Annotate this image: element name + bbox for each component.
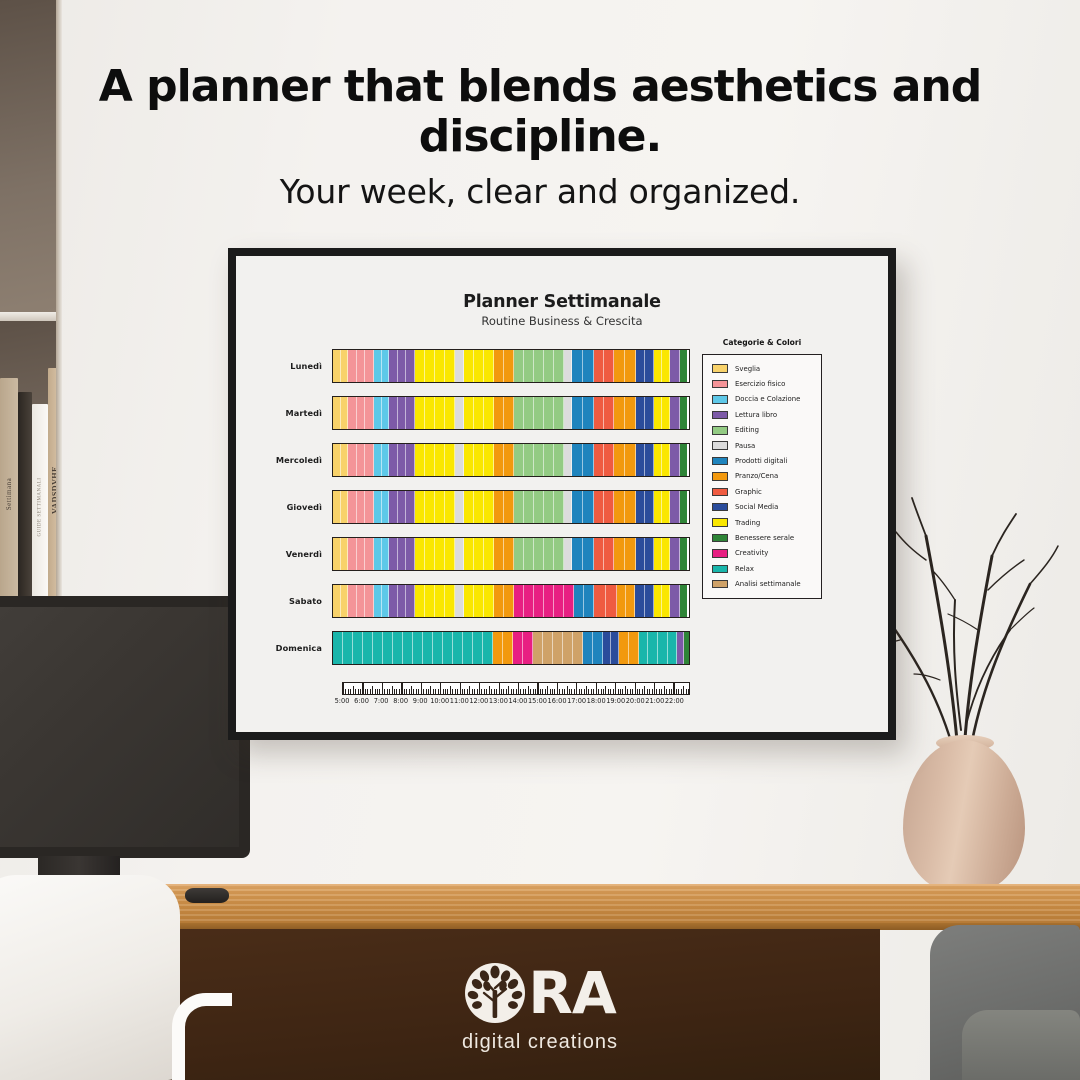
- timeline-segment[interactable]: [645, 397, 654, 429]
- timeline-segment[interactable]: [654, 444, 662, 476]
- timeline-segment[interactable]: [415, 350, 425, 382]
- timeline-segment[interactable]: [593, 632, 603, 664]
- axis-tick-label: 21:00: [645, 697, 664, 705]
- timeline-segment[interactable]: [636, 397, 645, 429]
- timeline-segment[interactable]: [415, 491, 425, 523]
- timeline-segment[interactable]: [668, 632, 678, 664]
- timeline-segment[interactable]: [425, 397, 435, 429]
- timeline-segment[interactable]: [415, 538, 425, 570]
- timeline-segment[interactable]: [341, 491, 349, 523]
- timeline-segment[interactable]: [564, 397, 572, 429]
- timeline-segment[interactable]: [445, 585, 455, 617]
- timeline-segment[interactable]: [443, 632, 453, 664]
- timeline-segment[interactable]: [611, 632, 619, 664]
- timeline-segment[interactable]: [455, 538, 465, 570]
- timeline-segment[interactable]: [464, 538, 474, 570]
- timeline-segment[interactable]: [425, 350, 435, 382]
- timeline-segment[interactable]: [435, 397, 445, 429]
- timeline-segment[interactable]: [464, 350, 474, 382]
- legend-label: Sveglia: [735, 365, 760, 373]
- timeline-segment[interactable]: [614, 538, 625, 570]
- timeline-segment[interactable]: [504, 538, 514, 570]
- legend-item[interactable]: Benessere serale: [712, 530, 815, 545]
- timeline-segment[interactable]: [583, 350, 594, 382]
- legend-item[interactable]: Prodotti digitali: [712, 453, 815, 468]
- timeline-segment[interactable]: [398, 350, 406, 382]
- timeline-segment[interactable]: [619, 632, 629, 664]
- timeline-segment[interactable]: [425, 538, 435, 570]
- timeline-segment[interactable]: [594, 444, 604, 476]
- timeline-segment[interactable]: [534, 444, 544, 476]
- timeline-segment[interactable]: [504, 444, 514, 476]
- day-timeline-bar[interactable]: [332, 631, 690, 665]
- timeline-segment[interactable]: [406, 538, 414, 570]
- timeline-segment[interactable]: [464, 491, 474, 523]
- timeline-segment[interactable]: [365, 585, 373, 617]
- timeline-segment[interactable]: [445, 538, 455, 570]
- timeline-segment[interactable]: [524, 538, 534, 570]
- timeline-segment[interactable]: [533, 632, 543, 664]
- timeline-segment[interactable]: [554, 397, 564, 429]
- timeline-segment[interactable]: [484, 491, 494, 523]
- timeline-segment[interactable]: [463, 632, 473, 664]
- timeline-segment[interactable]: [544, 350, 554, 382]
- timeline-segment[interactable]: [348, 491, 356, 523]
- day-timeline-bar[interactable]: [332, 537, 690, 571]
- timeline-segment[interactable]: [393, 632, 403, 664]
- timeline-segment[interactable]: [564, 350, 572, 382]
- axis-tick: [615, 682, 616, 694]
- timeline-segment[interactable]: [382, 444, 390, 476]
- day-label: Venerdì: [250, 549, 332, 559]
- timeline-segment[interactable]: [639, 632, 649, 664]
- timeline-segment[interactable]: [680, 491, 687, 523]
- timeline-segment[interactable]: [504, 350, 514, 382]
- timeline-segment[interactable]: [534, 350, 544, 382]
- timeline-segment[interactable]: [572, 350, 583, 382]
- timeline-segment[interactable]: [572, 491, 583, 523]
- timeline-segment[interactable]: [670, 538, 680, 570]
- timeline-segment[interactable]: [614, 444, 625, 476]
- timeline-segment[interactable]: [662, 444, 670, 476]
- timeline-segment[interactable]: [680, 444, 687, 476]
- timeline-segment[interactable]: [625, 397, 636, 429]
- timeline-segment[interactable]: [365, 444, 373, 476]
- timeline-segment[interactable]: [662, 397, 670, 429]
- timeline-segment[interactable]: [363, 632, 373, 664]
- timeline-segment[interactable]: [464, 444, 474, 476]
- timeline-segment[interactable]: [445, 350, 455, 382]
- timeline-segment[interactable]: [680, 585, 687, 617]
- timeline-segment[interactable]: [348, 350, 356, 382]
- timeline-segment[interactable]: [389, 397, 397, 429]
- timeline-segment[interactable]: [636, 491, 645, 523]
- timeline-segment[interactable]: [365, 538, 373, 570]
- timeline-segment[interactable]: [554, 444, 564, 476]
- timeline-segment[interactable]: [524, 491, 534, 523]
- timeline-segment[interactable]: [625, 350, 636, 382]
- timeline-segment[interactable]: [654, 397, 662, 429]
- timeline-segment[interactable]: [523, 632, 533, 664]
- timeline-segment[interactable]: [374, 444, 382, 476]
- timeline-segment[interactable]: [435, 585, 445, 617]
- timeline-segment[interactable]: [543, 632, 553, 664]
- timeline-segment[interactable]: [343, 632, 353, 664]
- timeline-segment[interactable]: [382, 397, 390, 429]
- timeline-segment[interactable]: [594, 538, 604, 570]
- timeline-segment[interactable]: [614, 397, 625, 429]
- timeline-segment[interactable]: [574, 585, 584, 617]
- timeline-segment[interactable]: [398, 538, 406, 570]
- timeline-segment[interactable]: [544, 585, 554, 617]
- day-timeline-bar[interactable]: [332, 443, 690, 477]
- timeline-segment[interactable]: [544, 491, 554, 523]
- timeline-segment[interactable]: [389, 350, 397, 382]
- timeline-segment[interactable]: [357, 538, 365, 570]
- timeline-segment[interactable]: [341, 350, 349, 382]
- day-label: Domenica: [250, 643, 332, 653]
- timeline-segment[interactable]: [645, 491, 654, 523]
- legend-item[interactable]: Trading: [712, 515, 815, 530]
- timeline-segment[interactable]: [353, 632, 363, 664]
- timeline-segment[interactable]: [365, 350, 373, 382]
- timeline-segment[interactable]: [455, 444, 465, 476]
- timeline-segment[interactable]: [625, 538, 636, 570]
- legend-item[interactable]: Pranzo/Cena: [712, 469, 815, 484]
- timeline-segment[interactable]: [374, 397, 382, 429]
- timeline-segment[interactable]: [648, 632, 658, 664]
- timeline-segment[interactable]: [403, 632, 413, 664]
- timeline-segment[interactable]: [594, 397, 604, 429]
- timeline-segment[interactable]: [435, 444, 445, 476]
- timeline-segment[interactable]: [494, 585, 504, 617]
- timeline-segment[interactable]: [504, 491, 514, 523]
- timeline-segment[interactable]: [514, 491, 524, 523]
- timeline-segment[interactable]: [425, 444, 435, 476]
- legend-item[interactable]: Editing: [712, 423, 815, 438]
- legend-item[interactable]: Esercizio fisico: [712, 376, 815, 391]
- timeline-segment[interactable]: [484, 350, 494, 382]
- timeline-segment[interactable]: [524, 397, 534, 429]
- timeline-segment[interactable]: [333, 538, 341, 570]
- timeline-segment[interactable]: [415, 585, 425, 617]
- timeline-segment[interactable]: [594, 350, 604, 382]
- timeline-segment[interactable]: [572, 397, 583, 429]
- timeline-segment[interactable]: [583, 632, 593, 664]
- timeline-segment[interactable]: [503, 632, 513, 664]
- timeline-segment[interactable]: [406, 444, 414, 476]
- timeline-segment[interactable]: [534, 585, 544, 617]
- timeline-segment[interactable]: [455, 397, 465, 429]
- timeline-segment[interactable]: [654, 585, 662, 617]
- timeline-segment[interactable]: [670, 585, 680, 617]
- timeline-segment[interactable]: [389, 444, 397, 476]
- axis-tick: [627, 689, 628, 694]
- timeline-segment[interactable]: [333, 585, 341, 617]
- timeline-segment[interactable]: [564, 491, 572, 523]
- timeline-segment[interactable]: [572, 538, 583, 570]
- timeline-segment[interactable]: [572, 444, 583, 476]
- timeline-segment[interactable]: [494, 491, 504, 523]
- timeline-segment[interactable]: [514, 350, 524, 382]
- timeline-segment[interactable]: [357, 585, 365, 617]
- day-timeline-bar[interactable]: [332, 396, 690, 430]
- timeline-segment[interactable]: [524, 350, 534, 382]
- timeline-segment[interactable]: [629, 632, 639, 664]
- timeline-segment[interactable]: [333, 491, 341, 523]
- timeline-segment[interactable]: [333, 444, 341, 476]
- timeline-segment[interactable]: [554, 538, 564, 570]
- timeline-segment[interactable]: [493, 632, 503, 664]
- timeline-segment[interactable]: [398, 444, 406, 476]
- timeline-segment[interactable]: [583, 538, 594, 570]
- timeline-segment[interactable]: [645, 444, 654, 476]
- timeline-segment[interactable]: [636, 444, 645, 476]
- timeline-segment[interactable]: [474, 350, 484, 382]
- timeline-segment[interactable]: [365, 397, 373, 429]
- timeline-segment[interactable]: [658, 632, 668, 664]
- timeline-segment[interactable]: [445, 397, 455, 429]
- timeline-segment[interactable]: [382, 350, 390, 382]
- timeline-segment[interactable]: [670, 491, 680, 523]
- timeline-segment[interactable]: [636, 350, 645, 382]
- timeline-segment[interactable]: [564, 585, 574, 617]
- legend-item[interactable]: Pausa: [712, 438, 815, 453]
- timeline-segment[interactable]: [435, 538, 445, 570]
- axis-tick: [644, 686, 645, 694]
- timeline-segment[interactable]: [425, 585, 435, 617]
- timeline-segment[interactable]: [383, 632, 393, 664]
- timeline-segment[interactable]: [413, 632, 423, 664]
- timeline-segment[interactable]: [484, 585, 494, 617]
- legend-title: Categorie & Colori: [702, 338, 822, 347]
- timeline-segment[interactable]: [341, 397, 349, 429]
- timeline-segment[interactable]: [603, 632, 611, 664]
- timeline-segment[interactable]: [563, 632, 573, 664]
- timeline-segment[interactable]: [455, 350, 465, 382]
- timeline-segment[interactable]: [662, 538, 670, 570]
- timeline-segment[interactable]: [333, 397, 341, 429]
- timeline-segment[interactable]: [680, 538, 687, 570]
- timeline-segment[interactable]: [374, 538, 382, 570]
- timeline-segment[interactable]: [514, 585, 524, 617]
- timeline-segment[interactable]: [483, 632, 493, 664]
- timeline-segment[interactable]: [357, 397, 365, 429]
- timeline-segment[interactable]: [415, 444, 425, 476]
- timeline-segment[interactable]: [484, 397, 494, 429]
- axis-tick: [375, 689, 376, 694]
- timeline-segment[interactable]: [423, 632, 433, 664]
- timeline-segment[interactable]: [553, 632, 563, 664]
- timeline-segment[interactable]: [348, 397, 356, 429]
- timeline-segment[interactable]: [374, 350, 382, 382]
- timeline-segment[interactable]: [494, 444, 504, 476]
- timeline-segment[interactable]: [604, 444, 614, 476]
- timeline-segment[interactable]: [680, 397, 687, 429]
- timeline-segment[interactable]: [662, 585, 670, 617]
- timeline-segment[interactable]: [662, 350, 670, 382]
- timeline-segment[interactable]: [474, 397, 484, 429]
- timeline-segment[interactable]: [374, 585, 382, 617]
- legend-item[interactable]: Graphic: [712, 484, 815, 499]
- timeline-segment[interactable]: [333, 632, 343, 664]
- timeline-segment[interactable]: [583, 491, 594, 523]
- timeline-segment[interactable]: [614, 491, 625, 523]
- timeline-segment[interactable]: [584, 585, 594, 617]
- timeline-segment[interactable]: [474, 538, 484, 570]
- timeline-segment[interactable]: [484, 444, 494, 476]
- timeline-segment[interactable]: [445, 444, 455, 476]
- timeline-segment[interactable]: [514, 444, 524, 476]
- timeline-segment[interactable]: [645, 350, 654, 382]
- timeline-segment[interactable]: [534, 538, 544, 570]
- timeline-segment[interactable]: [635, 585, 644, 617]
- timeline-segment[interactable]: [625, 491, 636, 523]
- timeline-segment[interactable]: [474, 491, 484, 523]
- timeline-segment[interactable]: [433, 632, 443, 664]
- timeline-segment[interactable]: [406, 585, 414, 617]
- timeline-segment[interactable]: [333, 350, 341, 382]
- timeline-segment[interactable]: [389, 538, 397, 570]
- timeline-segment[interactable]: [382, 538, 390, 570]
- timeline-segment[interactable]: [583, 397, 594, 429]
- timeline-segment[interactable]: [564, 444, 572, 476]
- axis-tick: [348, 689, 349, 694]
- timeline-segment[interactable]: [348, 538, 356, 570]
- timeline-segment[interactable]: [645, 538, 654, 570]
- timeline-segment[interactable]: [662, 491, 670, 523]
- timeline-segment[interactable]: [504, 585, 514, 617]
- timeline-segment[interactable]: [617, 585, 626, 617]
- timeline-segment[interactable]: [348, 444, 356, 476]
- timeline-segment[interactable]: [474, 444, 484, 476]
- timeline-segment[interactable]: [544, 397, 554, 429]
- timeline-segment[interactable]: [474, 585, 484, 617]
- legend-item[interactable]: Doccia e Colazione: [712, 392, 815, 407]
- timeline-segment[interactable]: [614, 350, 625, 382]
- timeline-segment[interactable]: [415, 397, 425, 429]
- timeline-segment[interactable]: [625, 444, 636, 476]
- timeline-segment[interactable]: [425, 491, 435, 523]
- timeline-segment[interactable]: [594, 585, 606, 617]
- timeline-segment[interactable]: [524, 585, 534, 617]
- timeline-segment[interactable]: [406, 397, 414, 429]
- timeline-segment[interactable]: [544, 444, 554, 476]
- timeline-segment[interactable]: [382, 491, 390, 523]
- timeline-segment[interactable]: [604, 350, 614, 382]
- timeline-segment[interactable]: [389, 491, 397, 523]
- timeline-segment[interactable]: [341, 585, 349, 617]
- timeline-segment[interactable]: [684, 632, 689, 664]
- timeline-segment[interactable]: [554, 585, 564, 617]
- timeline-segment[interactable]: [606, 585, 618, 617]
- axis-tick: [513, 689, 514, 694]
- timeline-segment[interactable]: [654, 350, 662, 382]
- timeline-segment[interactable]: [604, 491, 614, 523]
- timeline-segment[interactable]: [453, 632, 463, 664]
- legend-item[interactable]: Sveglia: [712, 361, 815, 376]
- timeline-segment[interactable]: [341, 444, 349, 476]
- legend-item[interactable]: Relax: [712, 561, 815, 576]
- timeline-segment[interactable]: [626, 585, 635, 617]
- timeline-segment[interactable]: [406, 350, 414, 382]
- timeline-segment[interactable]: [670, 397, 680, 429]
- timeline-segment[interactable]: [554, 491, 564, 523]
- timeline-segment[interactable]: [484, 538, 494, 570]
- timeline-segment[interactable]: [473, 632, 483, 664]
- timeline-segment[interactable]: [544, 538, 554, 570]
- legend-swatch: [712, 411, 728, 420]
- day-timeline-bar[interactable]: [332, 584, 690, 618]
- timeline-segment[interactable]: [534, 397, 544, 429]
- timeline-segment[interactable]: [455, 585, 465, 617]
- axis-tick: [622, 689, 623, 694]
- timeline-segment[interactable]: [435, 350, 445, 382]
- timeline-segment[interactable]: [398, 585, 406, 617]
- timeline-segment[interactable]: [494, 538, 504, 570]
- timeline-segment[interactable]: [680, 350, 687, 382]
- timeline-segment[interactable]: [670, 444, 680, 476]
- legend-item[interactable]: Analisi settimanale: [712, 576, 815, 591]
- timeline-segment[interactable]: [513, 632, 523, 664]
- legend-item[interactable]: Creativity: [712, 546, 815, 561]
- timeline-segment[interactable]: [435, 491, 445, 523]
- day-timeline-bar[interactable]: [332, 349, 690, 383]
- timeline-segment[interactable]: [573, 632, 583, 664]
- timeline-segment[interactable]: [357, 350, 365, 382]
- timeline-segment[interactable]: [564, 538, 572, 570]
- timeline-segment[interactable]: [504, 397, 514, 429]
- timeline-segment[interactable]: [524, 444, 534, 476]
- timeline-segment[interactable]: [514, 397, 524, 429]
- timeline-segment[interactable]: [374, 491, 382, 523]
- timeline-segment[interactable]: [554, 350, 564, 382]
- timeline-segment[interactable]: [636, 538, 645, 570]
- timeline-segment[interactable]: [398, 491, 406, 523]
- timeline-segment[interactable]: [604, 397, 614, 429]
- timeline-segment[interactable]: [406, 491, 414, 523]
- timeline-segment[interactable]: [357, 444, 365, 476]
- timeline-segment[interactable]: [455, 491, 465, 523]
- timeline-segment[interactable]: [389, 585, 397, 617]
- timeline-segment[interactable]: [341, 538, 349, 570]
- timeline-segment[interactable]: [594, 491, 604, 523]
- timeline-segment[interactable]: [445, 491, 455, 523]
- axis-tick: [571, 689, 572, 694]
- timeline-segment[interactable]: [357, 491, 365, 523]
- timeline-segment[interactable]: [494, 350, 504, 382]
- timeline-segment[interactable]: [654, 491, 662, 523]
- timeline-segment[interactable]: [494, 397, 504, 429]
- legend-item[interactable]: Lettura libro: [712, 407, 815, 422]
- timeline-segment[interactable]: [534, 491, 544, 523]
- day-timeline-bar[interactable]: [332, 490, 690, 524]
- timeline-segment[interactable]: [464, 585, 474, 617]
- timeline-segment[interactable]: [365, 491, 373, 523]
- legend-item[interactable]: Social Media: [712, 500, 815, 515]
- timeline-segment[interactable]: [654, 538, 662, 570]
- timeline-segment[interactable]: [645, 585, 654, 617]
- timeline-segment[interactable]: [348, 585, 356, 617]
- timeline-segment[interactable]: [514, 538, 524, 570]
- timeline-segment[interactable]: [382, 585, 390, 617]
- timeline-segment[interactable]: [583, 444, 594, 476]
- timeline-segment[interactable]: [670, 350, 680, 382]
- timeline-segment[interactable]: [373, 632, 383, 664]
- timeline-segment[interactable]: [398, 397, 406, 429]
- timeline-segment[interactable]: [604, 538, 614, 570]
- timeline-segment[interactable]: [464, 397, 474, 429]
